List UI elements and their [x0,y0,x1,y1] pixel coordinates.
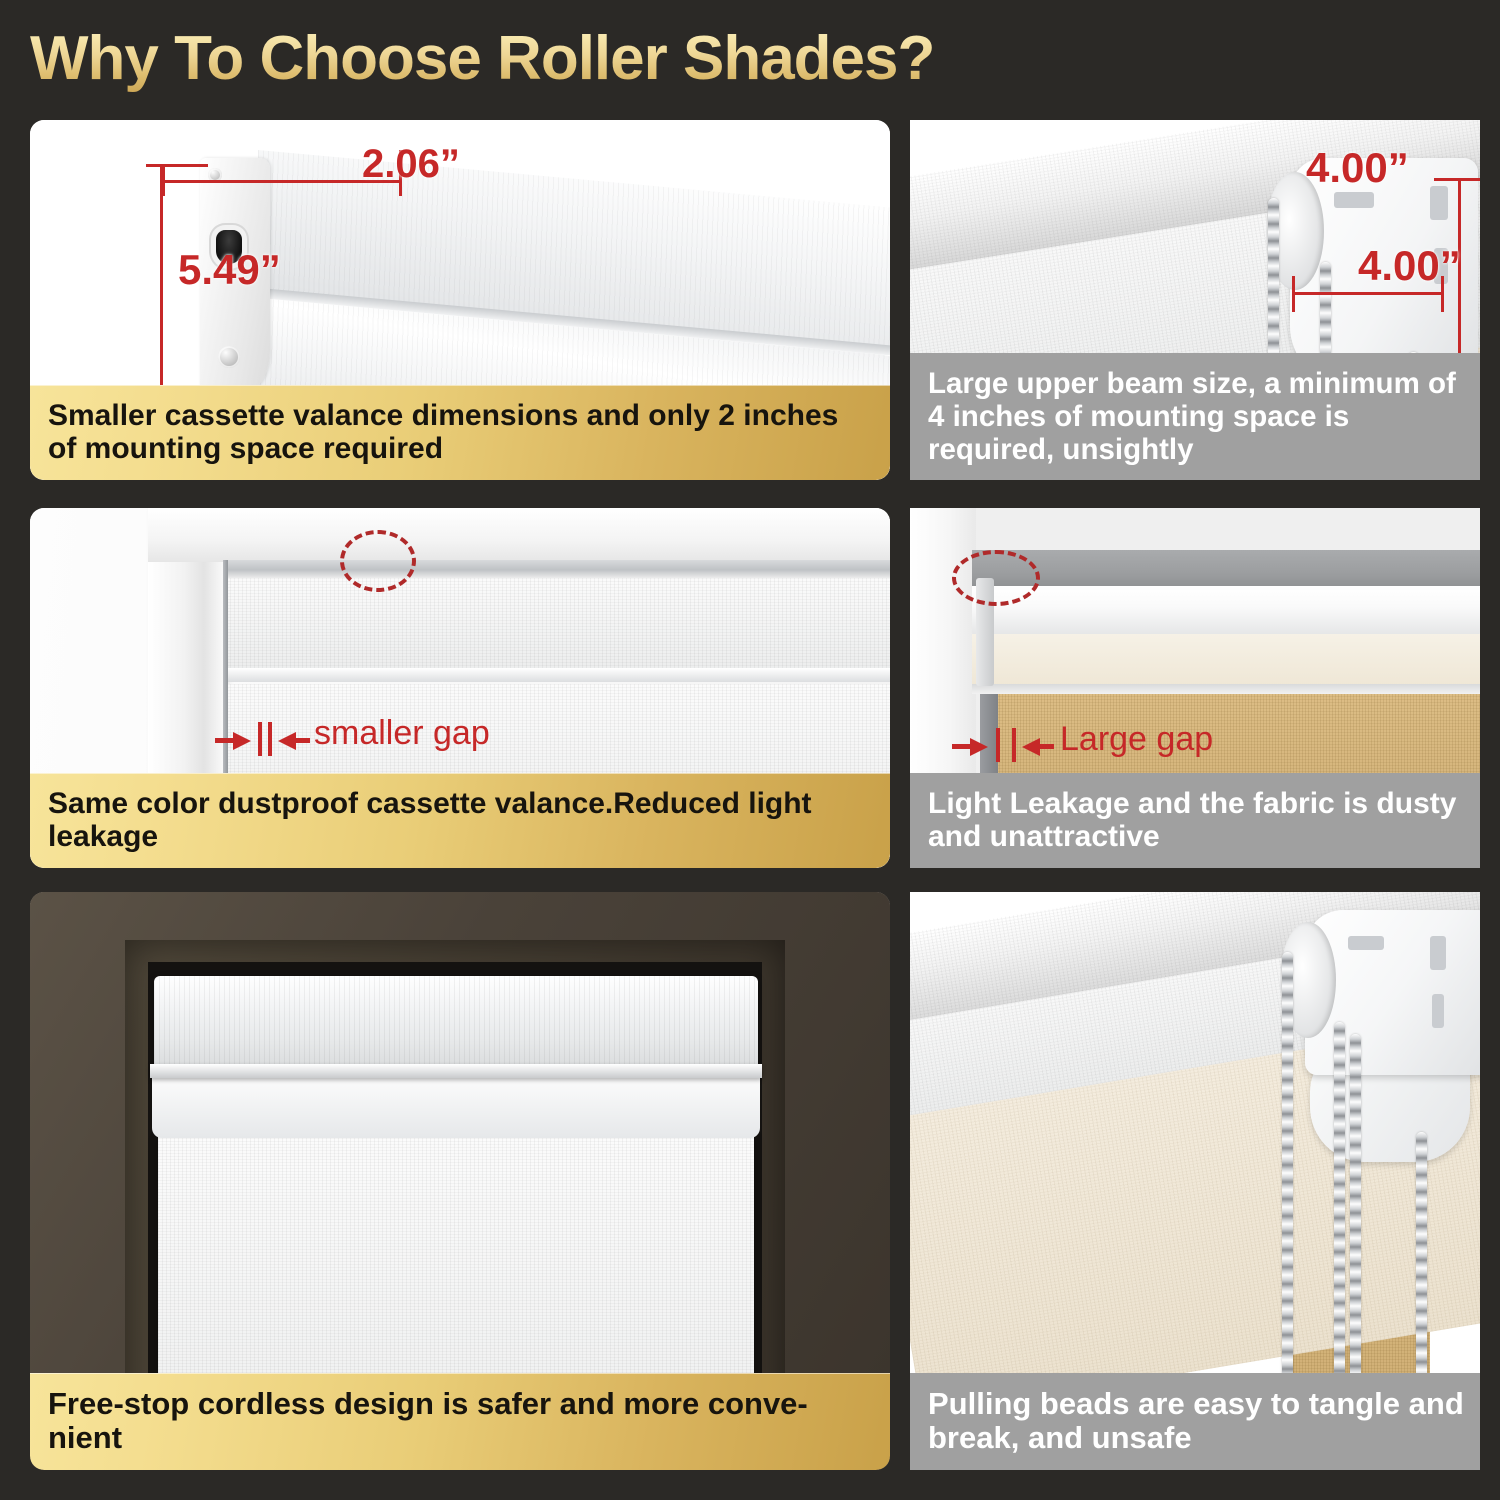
gap-marker-bar [258,722,262,756]
highlight-circle-icon [952,550,1040,606]
panel-good-1-caption: Smaller cassette valance dimensions and … [30,385,890,480]
panel-bad-2-caption: Light Leakage and the fabric is dusty an… [910,773,1480,868]
gap-marker-bar [1012,728,1016,762]
panel-bad-1: 4.00” 4.00” Large upper beam size, a min… [910,120,1480,480]
height-dimension-tick-top [1434,178,1480,181]
height-dimension-tick-top [146,164,208,167]
bracket-slot [1430,936,1446,970]
shade-fold-edge [226,668,890,682]
gap-arrow-stem-right [1040,744,1054,749]
page-title: Why To Choose Roller Shades? [30,18,1070,100]
bracket-slot [1432,994,1444,1028]
panel-good-2-caption: Same color dustproof cassette valance.Re… [30,773,890,868]
upper-beam-top [972,550,1480,588]
gap-arrow-left-icon [1022,738,1040,756]
gap-arrow-right-icon [970,738,988,756]
upper-beam-body [972,586,1480,638]
height-dimension-line [160,164,163,392]
width-dimension-tick-left [1292,276,1295,312]
window-frame-top [148,508,890,562]
panel-good-3-caption: Free-stop cordless design is safer and m… [30,1373,890,1470]
height-dimension-label: 4.00” [1358,242,1461,290]
screw-icon [218,346,240,368]
width-dimension-label: 2.06” [362,142,460,187]
highlight-circle-icon [340,530,416,592]
width-dimension-line [1292,292,1444,295]
cassette-valance-lip [150,1064,762,1078]
panel-good-2: smaller gap Same color dustproof cassett… [30,508,890,868]
cassette-valance-lower [152,1076,760,1138]
bracket-slot [1430,186,1448,220]
gap-callout-label: smaller gap [314,714,490,753]
upper-beam-cream-band [972,634,1480,686]
cassette-valance [154,976,758,1068]
panel-bad-1-caption: Large upper beam size, a minimum of 4 in… [910,353,1480,480]
gap-callout-label: Large gap [1060,720,1213,759]
width-dimension-label: 4.00” [1306,144,1409,192]
bracket-slot [1334,192,1374,208]
panel-good-3: Free-stop cordless design is safer and m… [30,892,890,1470]
width-dimension-tick-left [162,164,165,196]
infographic-root: Why To Choose Roller Shades? 5.49” 2.06” [0,0,1500,1500]
upper-beam-lip [972,684,1480,694]
gap-arrow-stem-right [296,738,310,743]
gap-arrow-right-icon [233,732,251,750]
panel-bad-3-caption: Pulling beads are easy to tangle and bre… [910,1373,1480,1470]
height-dimension-label: 5.49” [178,246,281,294]
gap-arrow-left-icon [278,732,296,750]
panel-good-1: 5.49” 2.06” Smaller cassette valance dim… [30,120,890,480]
panel-bad-3: Pulling beads are easy to tangle and bre… [910,892,1480,1470]
gap-marker-bar [268,722,272,756]
bracket-slot [1348,936,1384,950]
panel-bad-2: Large gap Light Leakage and the fabric i… [910,508,1480,868]
cassette-headrail [228,560,890,578]
shade-fabric-upper [226,576,890,672]
gap-marker-bar [996,728,1000,762]
